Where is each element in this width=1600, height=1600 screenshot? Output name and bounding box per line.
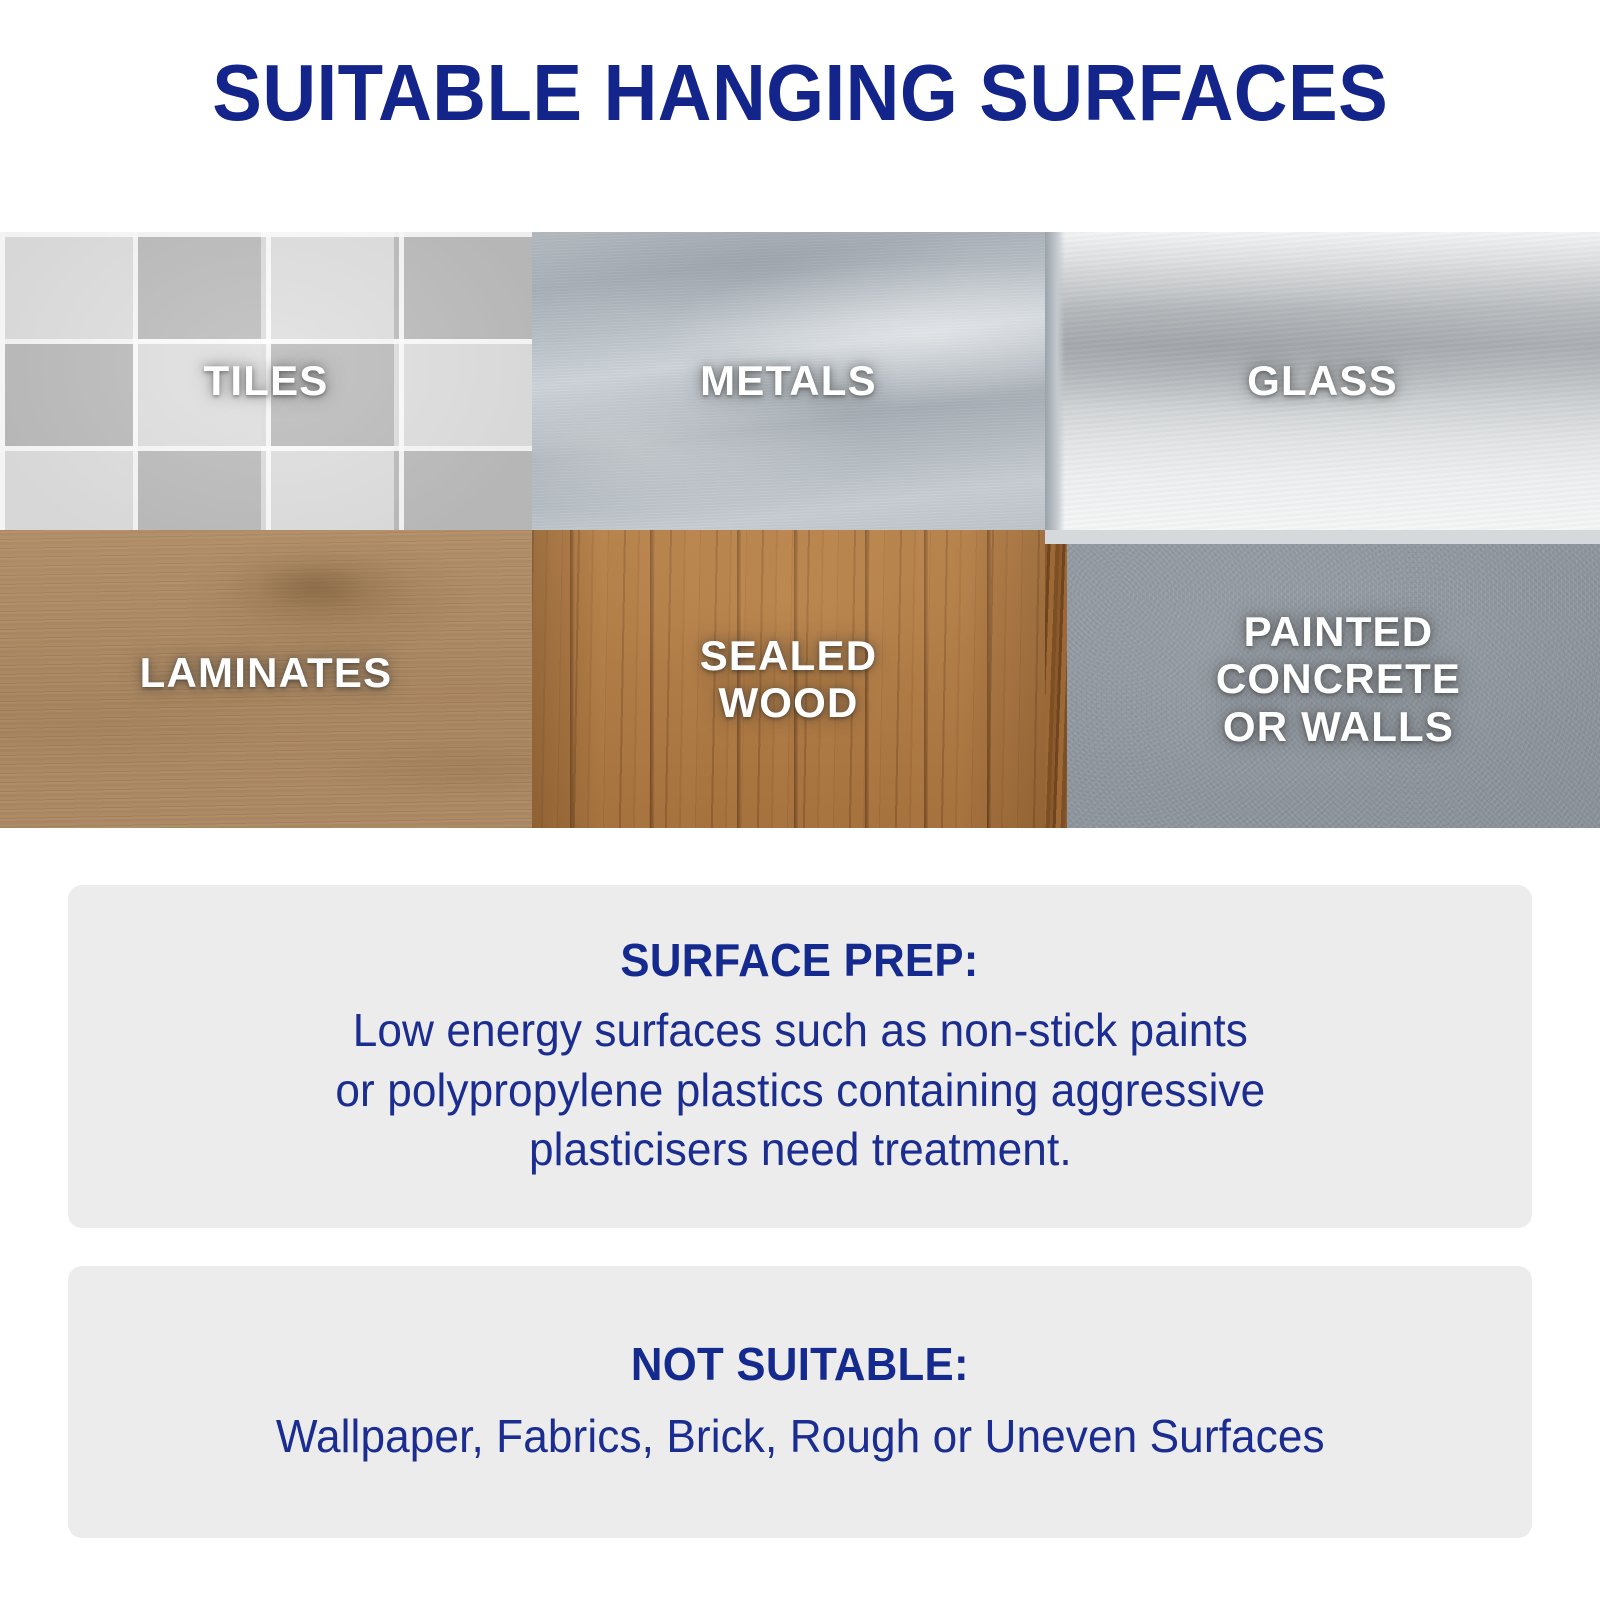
header: SUITABLE HANGING SURFACES <box>0 0 1600 232</box>
surface-prep-card: SURFACE PREP: Low energy surfaces such a… <box>68 885 1532 1228</box>
surface-cell-laminates[interactable]: LAMINATES <box>0 530 532 828</box>
surface-prep-heading: SURFACE PREP: <box>621 933 979 987</box>
surface-grid: TILES METALS GLASS LAMINATES SEALED WOOD <box>0 232 1600 828</box>
surface-cell-glass[interactable]: GLASS <box>1045 232 1600 530</box>
surface-cell-metals[interactable]: METALS <box>532 232 1045 530</box>
surface-label-tiles: TILES <box>203 357 328 404</box>
surface-label-glass: GLASS <box>1247 357 1398 404</box>
adjacent-wood-edge <box>1045 530 1067 828</box>
glass-edge <box>1045 232 1065 530</box>
page-title: SUITABLE HANGING SURFACES <box>212 53 1388 133</box>
surface-cell-painted-concrete[interactable]: PAINTED CONCRETE OR WALLS <box>1045 530 1600 828</box>
surface-label-painted-concrete: PAINTED CONCRETE OR WALLS <box>1216 608 1461 749</box>
concrete-top-band <box>1045 530 1600 544</box>
surface-label-laminates: LAMINATES <box>140 649 393 696</box>
surface-label-metals: METALS <box>700 357 877 404</box>
not-suitable-body: Wallpaper, Fabrics, Brick, Rough or Unev… <box>276 1407 1325 1467</box>
not-suitable-card: NOT SUITABLE: Wallpaper, Fabrics, Brick,… <box>68 1266 1532 1538</box>
surface-label-sealed-wood: SEALED WOOD <box>700 632 878 726</box>
surface-cell-sealed-wood[interactable]: SEALED WOOD <box>532 530 1045 828</box>
surface-cell-tiles[interactable]: TILES <box>0 232 532 530</box>
surface-prep-body: Low energy surfaces such as non-stick pa… <box>335 1001 1265 1180</box>
not-suitable-heading: NOT SUITABLE: <box>631 1337 969 1391</box>
